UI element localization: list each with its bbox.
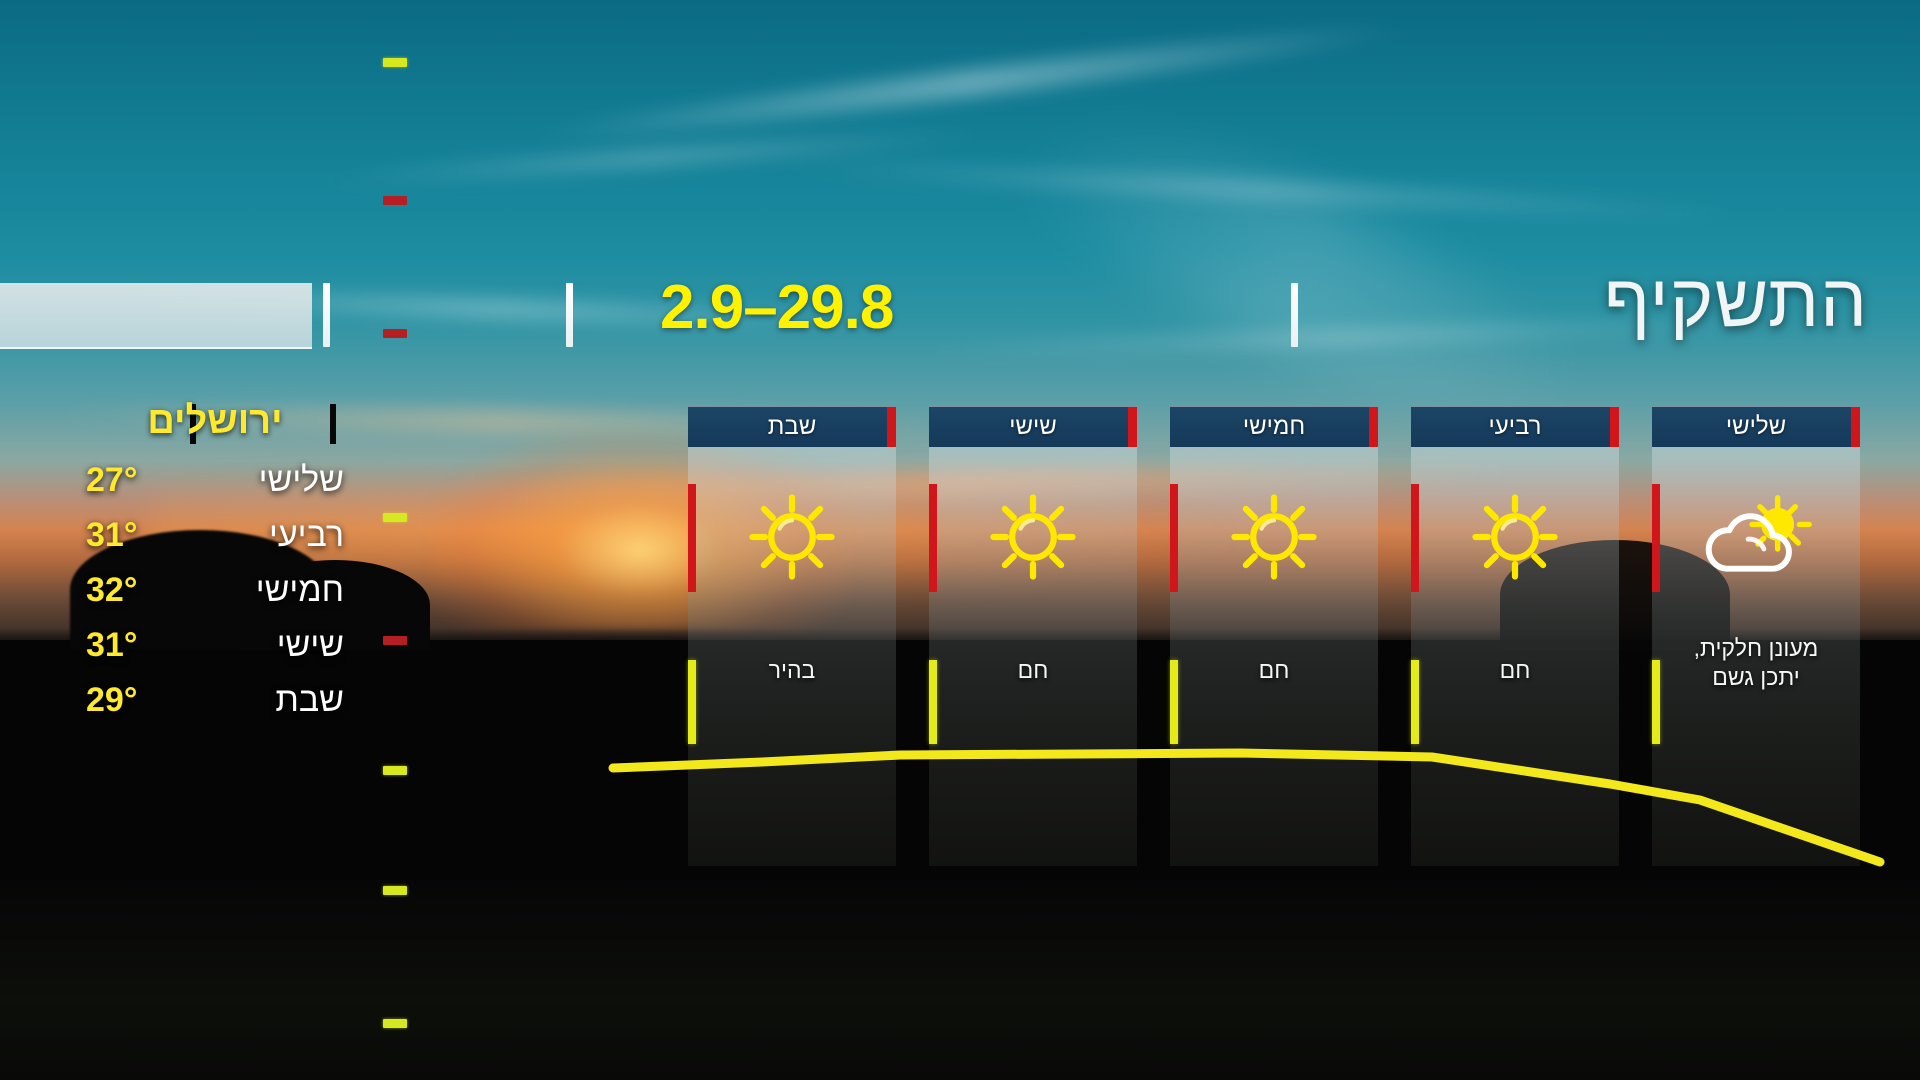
forecast-day-label: שלישי bbox=[1726, 413, 1786, 441]
card-yellow-bar bbox=[1652, 660, 1660, 744]
forecast-card-row: שלישימעונן חלקית,יתכן גשםרביעיחםחמישיחםש… bbox=[660, 406, 1860, 866]
ruler-tick-red bbox=[383, 636, 407, 645]
header-tick-mark bbox=[323, 283, 330, 347]
city-temp-value: 27° bbox=[86, 461, 137, 500]
weather-icon-slot bbox=[1170, 462, 1378, 612]
header-red-accent bbox=[1851, 407, 1860, 447]
header-tick-mark bbox=[1291, 283, 1298, 347]
forecast-condition-label: חם bbox=[1178, 656, 1370, 685]
partly-cloudy-icon bbox=[1696, 488, 1816, 586]
forecast-card[interactable]: שלישימעונן חלקית,יתכן גשם bbox=[1652, 406, 1860, 866]
weather-icon-slot bbox=[929, 462, 1137, 612]
forecast-card[interactable]: שישיחם bbox=[929, 406, 1137, 866]
sun-icon bbox=[1463, 485, 1567, 589]
forecast-condition-label: חם bbox=[937, 656, 1129, 685]
weather-icon-slot bbox=[1411, 462, 1619, 612]
date-range-label: 2.9–29.8 bbox=[660, 272, 893, 343]
weather-icon-slot bbox=[1652, 462, 1860, 612]
sun-icon bbox=[981, 485, 1085, 589]
header-red-accent bbox=[1369, 407, 1378, 447]
header-red-accent bbox=[1610, 407, 1619, 447]
forecast-card[interactable]: רביעיחם bbox=[1411, 406, 1619, 866]
ruler-tick-yellow bbox=[383, 513, 407, 522]
city-forecast-panel: ירושלים שלישי27°רביעי31°חמישי32°שישי31°ש… bbox=[80, 400, 350, 736]
header-red-accent bbox=[1128, 407, 1137, 447]
header-tick-mark bbox=[566, 283, 573, 347]
forecast-day-label: שישי bbox=[1009, 413, 1057, 441]
card-yellow-bar bbox=[1411, 660, 1419, 744]
forecast-card[interactable]: שבתבהיר bbox=[688, 406, 896, 866]
card-yellow-bar bbox=[688, 660, 696, 744]
city-day-row: רביעי31° bbox=[80, 516, 350, 555]
forecast-card-header: שישי bbox=[929, 406, 1137, 447]
broadcast-weather-overlay: 2.9–29.8 התשקיף ירושלים שלישי27°רביעי31°… bbox=[0, 0, 1920, 1080]
forecast-card-header: שבת bbox=[688, 406, 896, 447]
city-day-label: חמישי bbox=[256, 571, 344, 610]
forecast-day-label: חמישי bbox=[1243, 413, 1305, 441]
sun-icon bbox=[1222, 485, 1326, 589]
ruler-tick-yellow bbox=[383, 886, 407, 895]
city-day-label: שישי bbox=[277, 626, 344, 665]
ruler-tick-yellow bbox=[383, 1019, 407, 1028]
ruler-tick-yellow bbox=[383, 766, 407, 775]
city-name-label: ירושלים bbox=[80, 400, 350, 443]
forecast-card[interactable]: חמישיחם bbox=[1170, 406, 1378, 866]
ruler-tick-red bbox=[383, 329, 407, 338]
city-day-label: שלישי bbox=[259, 461, 344, 500]
city-day-row: שישי31° bbox=[80, 626, 350, 665]
city-temp-value: 29° bbox=[86, 681, 137, 720]
forecast-condition-label: בהיר bbox=[696, 656, 888, 685]
ruler-tick-yellow bbox=[383, 58, 407, 67]
forecast-day-label: רביעי bbox=[1489, 413, 1542, 441]
forecast-card-header: רביעי bbox=[1411, 406, 1619, 447]
ruler-tick-red bbox=[383, 196, 407, 205]
header-progress-bar bbox=[0, 283, 312, 349]
city-day-row: שבת29° bbox=[80, 681, 350, 720]
page-title: התשקיף bbox=[1604, 258, 1868, 343]
city-temp-value: 32° bbox=[86, 571, 137, 610]
city-day-row: שלישי27° bbox=[80, 461, 350, 500]
forecast-condition-label: חם bbox=[1419, 656, 1611, 685]
grass-field bbox=[0, 880, 1920, 1080]
city-day-list: שלישי27°רביעי31°חמישי32°שישי31°שבת29° bbox=[80, 461, 350, 720]
city-day-row: חמישי32° bbox=[80, 571, 350, 610]
header-red-accent bbox=[887, 407, 896, 447]
sun-icon bbox=[740, 485, 844, 589]
weather-icon-slot bbox=[688, 462, 896, 612]
forecast-card-header: חמישי bbox=[1170, 406, 1378, 447]
forecast-day-label: שבת bbox=[768, 413, 816, 441]
city-day-label: שבת bbox=[275, 681, 344, 720]
forecast-condition-label: מעונן חלקית,יתכן גשם bbox=[1660, 634, 1852, 692]
city-day-label: רביעי bbox=[269, 516, 344, 555]
forecast-card-header: שלישי bbox=[1652, 406, 1860, 447]
city-temp-value: 31° bbox=[86, 516, 137, 555]
city-temp-value: 31° bbox=[86, 626, 137, 665]
card-yellow-bar bbox=[929, 660, 937, 744]
card-yellow-bar bbox=[1170, 660, 1178, 744]
